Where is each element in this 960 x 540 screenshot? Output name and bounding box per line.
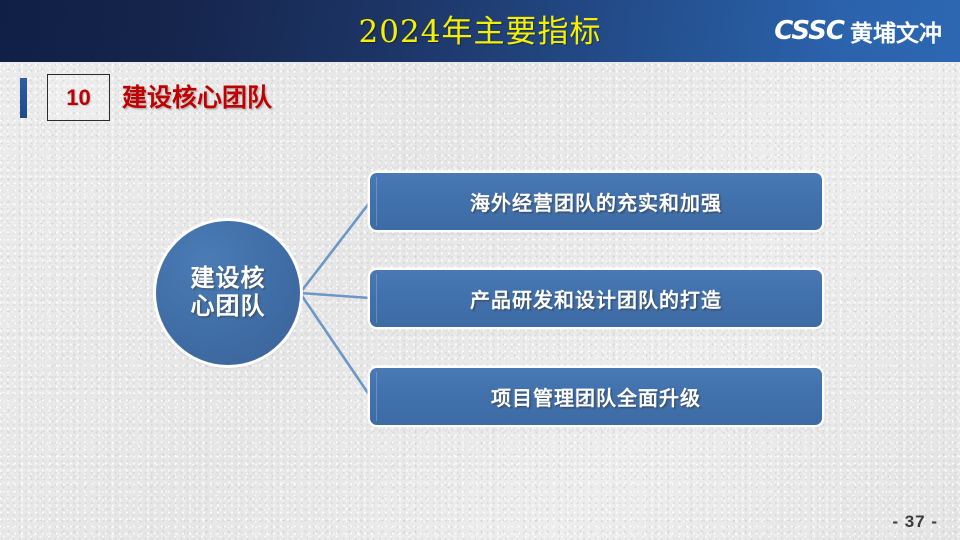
section-accent-bar (20, 78, 27, 118)
logo-company-name: 黄埔文冲 (850, 14, 942, 48)
section-number-box: 10 (47, 74, 110, 121)
slide: 2024年主要指标 CSSC 黄埔文冲 10 建设核心团队 建设核 心团队 海外… (0, 0, 960, 540)
logo-mark-text: CSSC (774, 16, 844, 46)
slide-header: 2024年主要指标 CSSC 黄埔文冲 (0, 0, 960, 62)
section-heading: 10 建设核心团队 (0, 72, 600, 122)
section-title: 建设核心团队 (122, 78, 272, 114)
section-number: 10 (66, 85, 90, 111)
company-logo: CSSC 黄埔文冲 (774, 14, 942, 48)
page-number: - 37 - (892, 512, 938, 532)
